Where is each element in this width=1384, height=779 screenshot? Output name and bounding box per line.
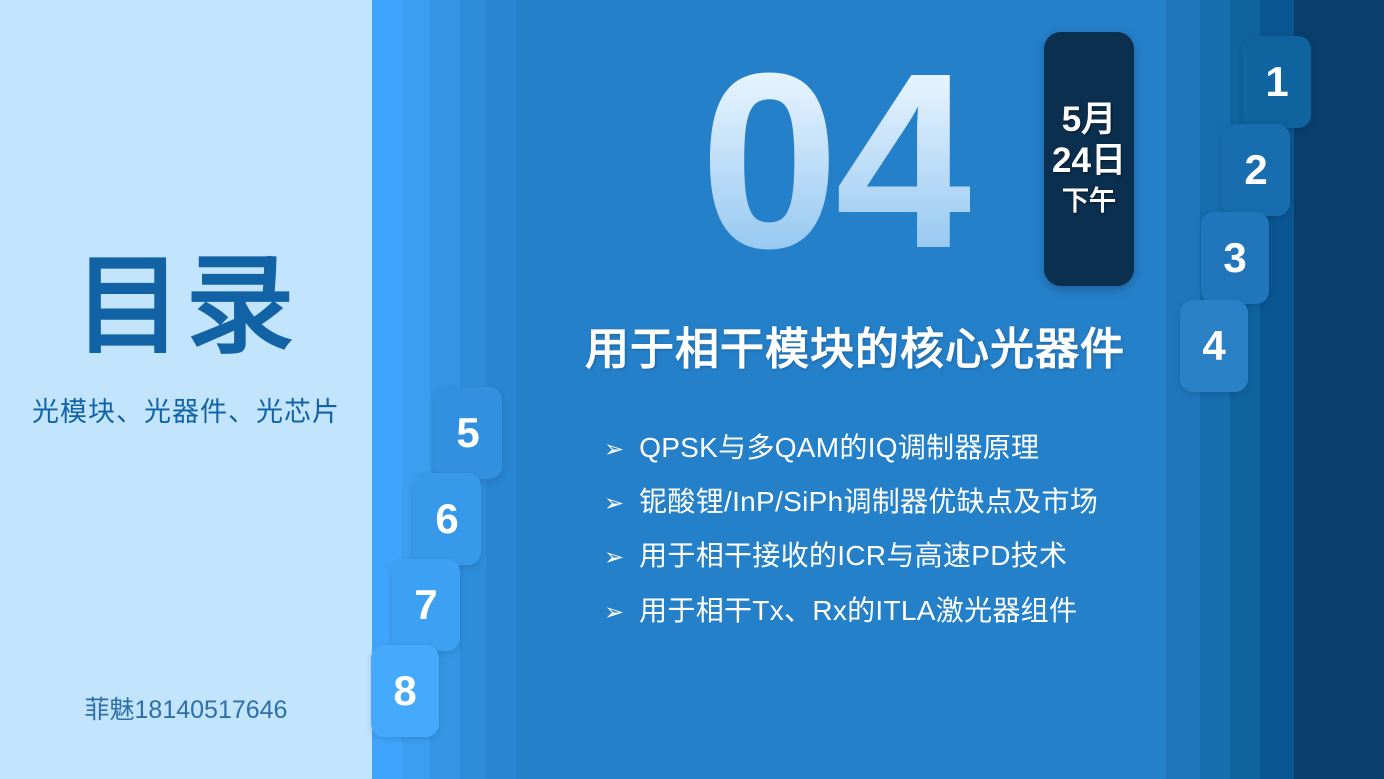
section-tab-6[interactable]: 6 xyxy=(413,473,481,565)
presentation-slide: 目录 光模块、光器件、光芯片 菲魅18140517646 12345678 04… xyxy=(0,0,1384,779)
arrow-bullet-icon: ➢ xyxy=(604,546,624,570)
section-tab-2[interactable]: 2 xyxy=(1222,124,1290,216)
date-month: 5月 xyxy=(1062,100,1116,141)
section-tab-5[interactable]: 5 xyxy=(434,387,502,479)
bullet-item: ➢用于相干Tx、Rx的ITLA激光器组件 xyxy=(604,595,1224,627)
section-tab-7[interactable]: 7 xyxy=(392,559,460,651)
bullet-item: ➢铌酸锂/InP/SiPh调制器优缺点及市场 xyxy=(604,486,1224,518)
arrow-bullet-icon: ➢ xyxy=(604,492,624,516)
section-tab-8[interactable]: 8 xyxy=(371,645,439,737)
page-title: 目录 xyxy=(0,249,372,362)
bullet-item: ➢用于相干接收的ICR与高速PD技术 xyxy=(604,540,1224,572)
sidebar-subtitle: 光模块、光器件、光芯片 xyxy=(0,390,372,429)
contact-info: 菲魅18140517646 xyxy=(0,690,372,726)
bullet-text: 用于相干接收的ICR与高速PD技术 xyxy=(639,540,1067,572)
section-tab-4[interactable]: 4 xyxy=(1180,300,1248,392)
section-tab-3[interactable]: 3 xyxy=(1201,212,1269,304)
section-heading: 用于相干模块的核心光器件 xyxy=(585,313,1125,377)
bullet-text: QPSK与多QAM的IQ调制器原理 xyxy=(639,432,1039,464)
arrow-bullet-icon: ➢ xyxy=(604,438,624,462)
bullet-item: ➢QPSK与多QAM的IQ调制器原理 xyxy=(604,432,1224,464)
bullet-text: 铌酸锂/InP/SiPh调制器优缺点及市场 xyxy=(639,486,1098,518)
bullet-text: 用于相干Tx、Rx的ITLA激光器组件 xyxy=(639,595,1077,627)
section-number: 04 xyxy=(700,36,970,286)
arrow-bullet-icon: ➢ xyxy=(604,601,624,625)
section-tab-1[interactable]: 1 xyxy=(1243,36,1311,128)
bullet-list: ➢QPSK与多QAM的IQ调制器原理➢铌酸锂/InP/SiPh调制器优缺点及市场… xyxy=(604,432,1224,649)
date-day: 24日 xyxy=(1052,141,1126,182)
date-period: 下午 xyxy=(1062,186,1116,217)
date-badge: 5月 24日 下午 xyxy=(1044,32,1134,286)
